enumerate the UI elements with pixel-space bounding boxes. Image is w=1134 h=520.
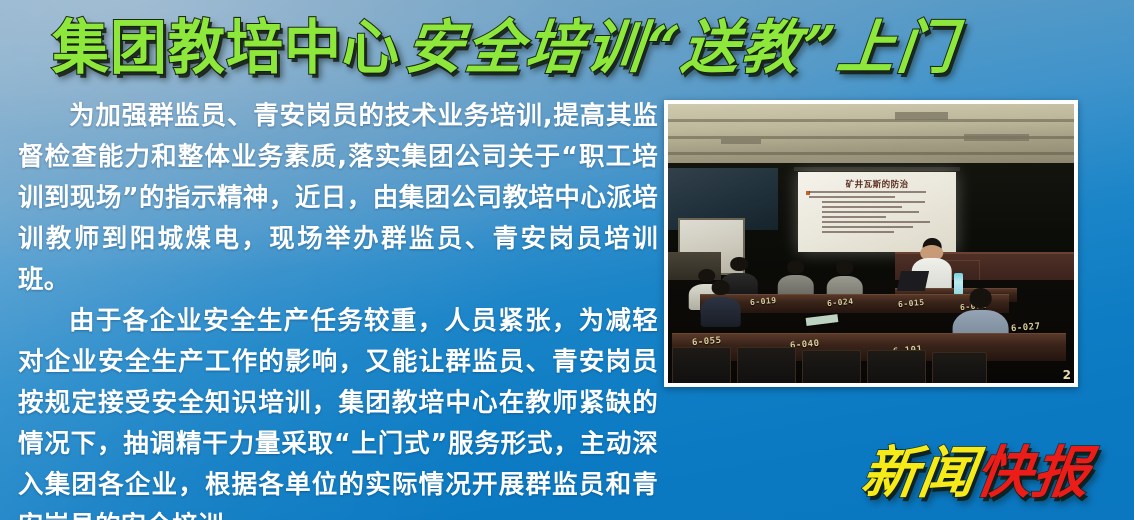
photo-chair-2 [737, 347, 796, 383]
news-flash-part-bulletin: 快报 [972, 446, 1094, 502]
photo-chair-4 [867, 350, 926, 383]
news-flash-badge: 新闻快报 [862, 446, 1090, 502]
headline-segment-organization: 集团教培中心 [52, 9, 400, 86]
photo-screen-rail [794, 167, 960, 171]
article-paragraph-1: 为加强群监员、青安岗员的技术业务培训,提高其监督检查能力和整体业务素质,落实集团… [18, 96, 658, 301]
page-title: 集团教培中心安全培训“送教”上门 [52, 10, 1092, 86]
seat-label-6-024: 6-024 [827, 297, 854, 308]
news-photo: 矿井瓦斯的防治 [668, 104, 1074, 383]
news-photo-frame: 矿井瓦斯的防治 [664, 100, 1078, 387]
article-paragraph-2: 由于各企业安全生产任务较重，人员紧张，为减轻对企业安全生产工作的影响，又能让群监… [18, 301, 658, 520]
article-body: 为加强群监员、青安岗员的技术业务培训,提高其监督检查能力和整体业务素质,落实集团… [18, 96, 658, 520]
photo-student-1 [700, 280, 741, 327]
news-poster: 集团教培中心安全培训“送教”上门 为加强群监员、青安岗员的技术业务培训,提高其监… [0, 0, 1134, 520]
seat-label-6-027: 6-027 [1010, 322, 1040, 335]
photo-chair-3 [802, 350, 861, 383]
slide-body-lines [809, 191, 948, 236]
news-flash-part-news: 新闻 [858, 446, 980, 502]
slide-title: 矿井瓦斯的防治 [798, 178, 956, 190]
seat-label-6-019: 6-019 [749, 296, 776, 307]
photo-laptop [897, 271, 930, 291]
photo-chair-1 [672, 347, 731, 383]
headline-segment-topic: 安全培训“送教”上门 [402, 10, 962, 85]
photo-corner-number: 2 [1063, 368, 1071, 382]
photo-ceiling [668, 104, 1074, 163]
photo-chair-5 [932, 352, 987, 383]
seat-label-6-015: 6-015 [898, 298, 925, 309]
